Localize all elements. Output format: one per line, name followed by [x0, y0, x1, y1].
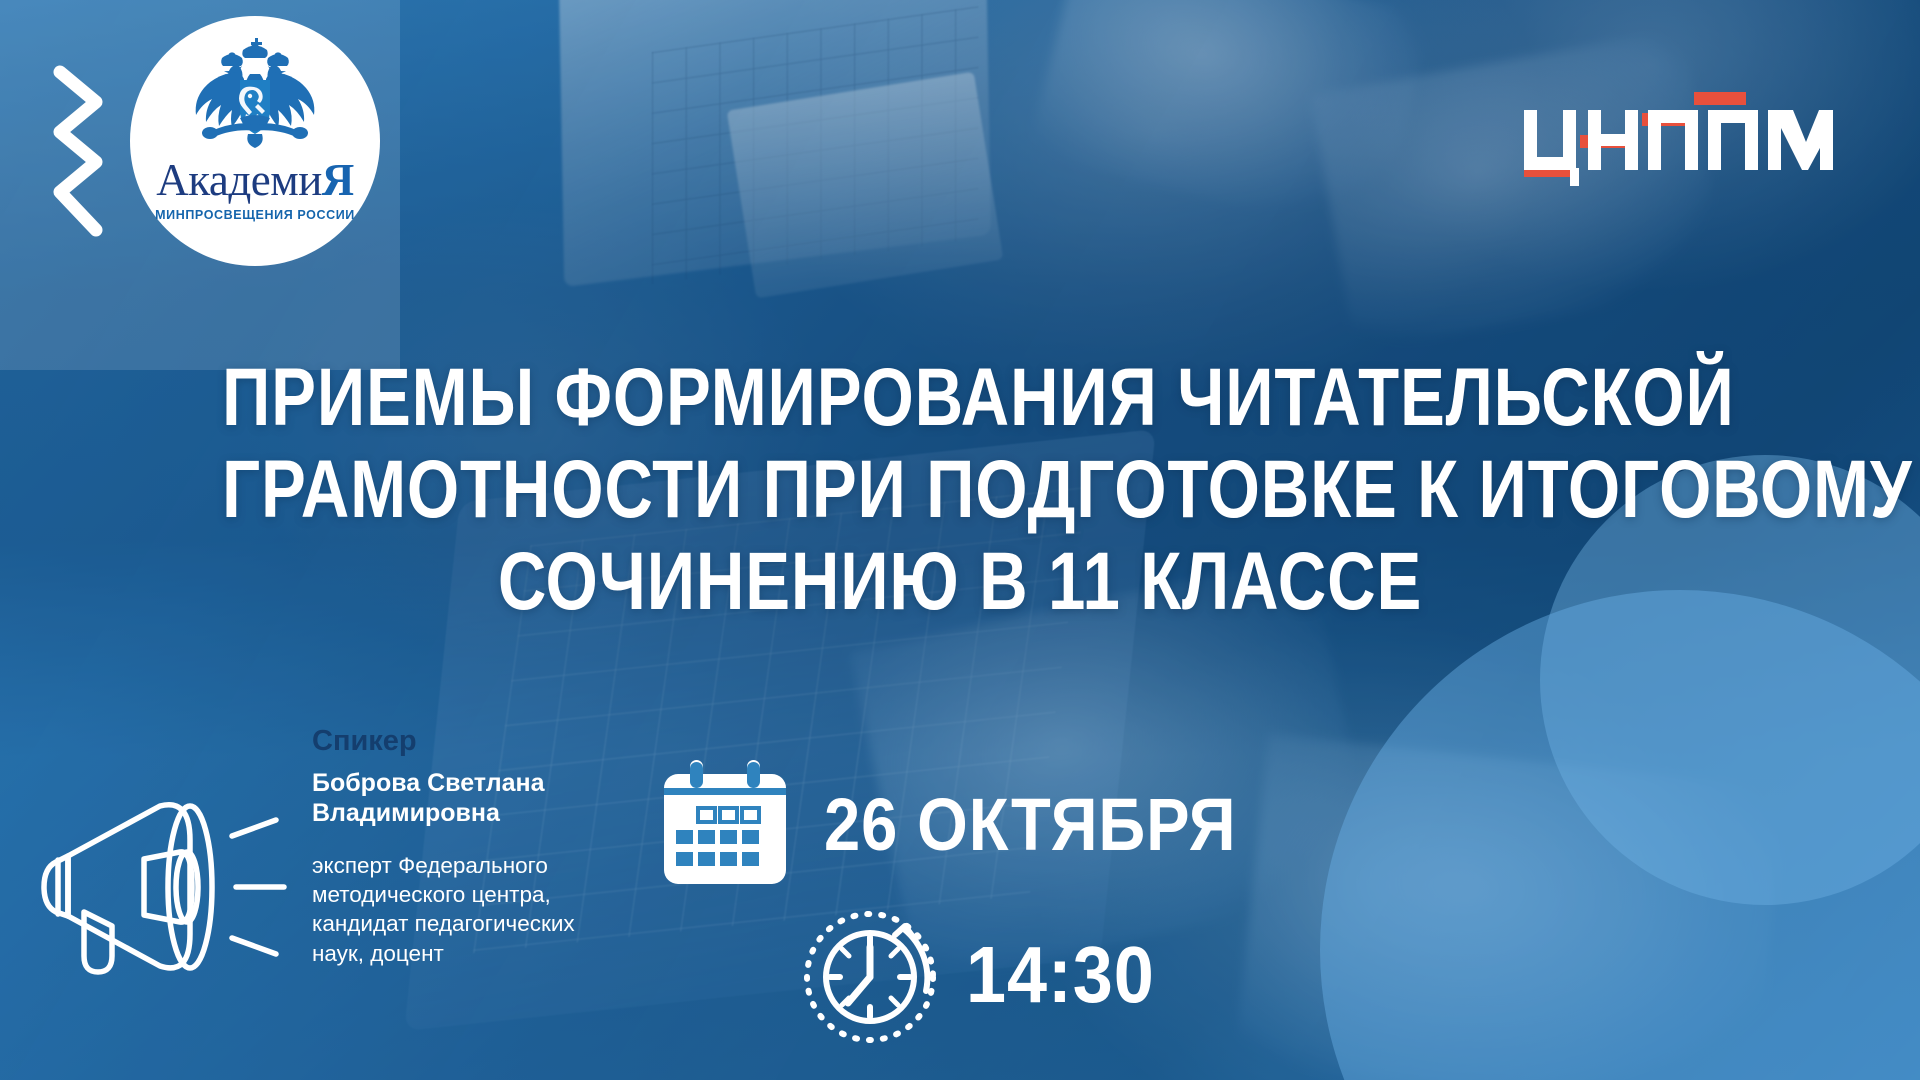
speaker-text-group: Спикер Боброва Светлана Владимировна экс… — [312, 726, 622, 968]
zigzag-decoration — [48, 62, 108, 242]
calendar-icon — [660, 760, 790, 888]
megaphone-icon — [40, 784, 290, 994]
event-time: 14:30 — [966, 929, 1155, 1021]
academy-logo: АкадемиЯ МИНПРОСВЕЩЕНИЯ РОССИИ — [130, 16, 380, 266]
academy-wordmark: АкадемиЯ — [156, 158, 354, 203]
event-date-row: 26 ОКТЯБРЯ — [660, 760, 1293, 888]
event-time-row: 14:30 — [800, 905, 1176, 1045]
event-poster: АкадемиЯ МИНПРОСВЕЩЕНИЯ РОССИИ — [0, 0, 1920, 1080]
academy-wordmark-accent: Я — [322, 155, 354, 205]
event-date: 26 ОКТЯБРЯ — [824, 782, 1237, 867]
academy-logo-subtitle: МИНПРОСВЕЩЕНИЯ РОССИИ — [155, 208, 355, 222]
title-line-3: СОЧИНЕНИЮ В 11 КЛАССЕ — [222, 536, 1698, 628]
title-line-1: ПРИЕМЫ ФОРМИРОВАНИЯ ЧИТАТЕЛЬСКОЙ — [222, 352, 1698, 444]
cnppm-logo: ЦНППМ — [1516, 72, 1852, 190]
academy-wordmark-main: Академи — [156, 155, 322, 205]
speaker-block: Спикер Боброва Светлана Владимировна экс… — [40, 726, 622, 994]
speaker-role: эксперт Федерального методического центр… — [312, 851, 622, 968]
cnppm-accent-bar-4 — [1694, 92, 1746, 105]
page-title: ПРИЕМЫ ФОРМИРОВАНИЯ ЧИТАТЕЛЬСКОЙ ГРАМОТН… — [0, 352, 1920, 627]
russian-eagle-emblem-icon — [180, 34, 330, 162]
clock-icon — [800, 905, 940, 1045]
speaker-label: Спикер — [312, 726, 622, 758]
speaker-name: Боброва Светлана Владимировна — [312, 768, 612, 829]
title-line-2: ГРАМОТНОСТИ ПРИ ПОДГОТОВКЕ К ИТОГОВОМУ — [222, 444, 1698, 536]
